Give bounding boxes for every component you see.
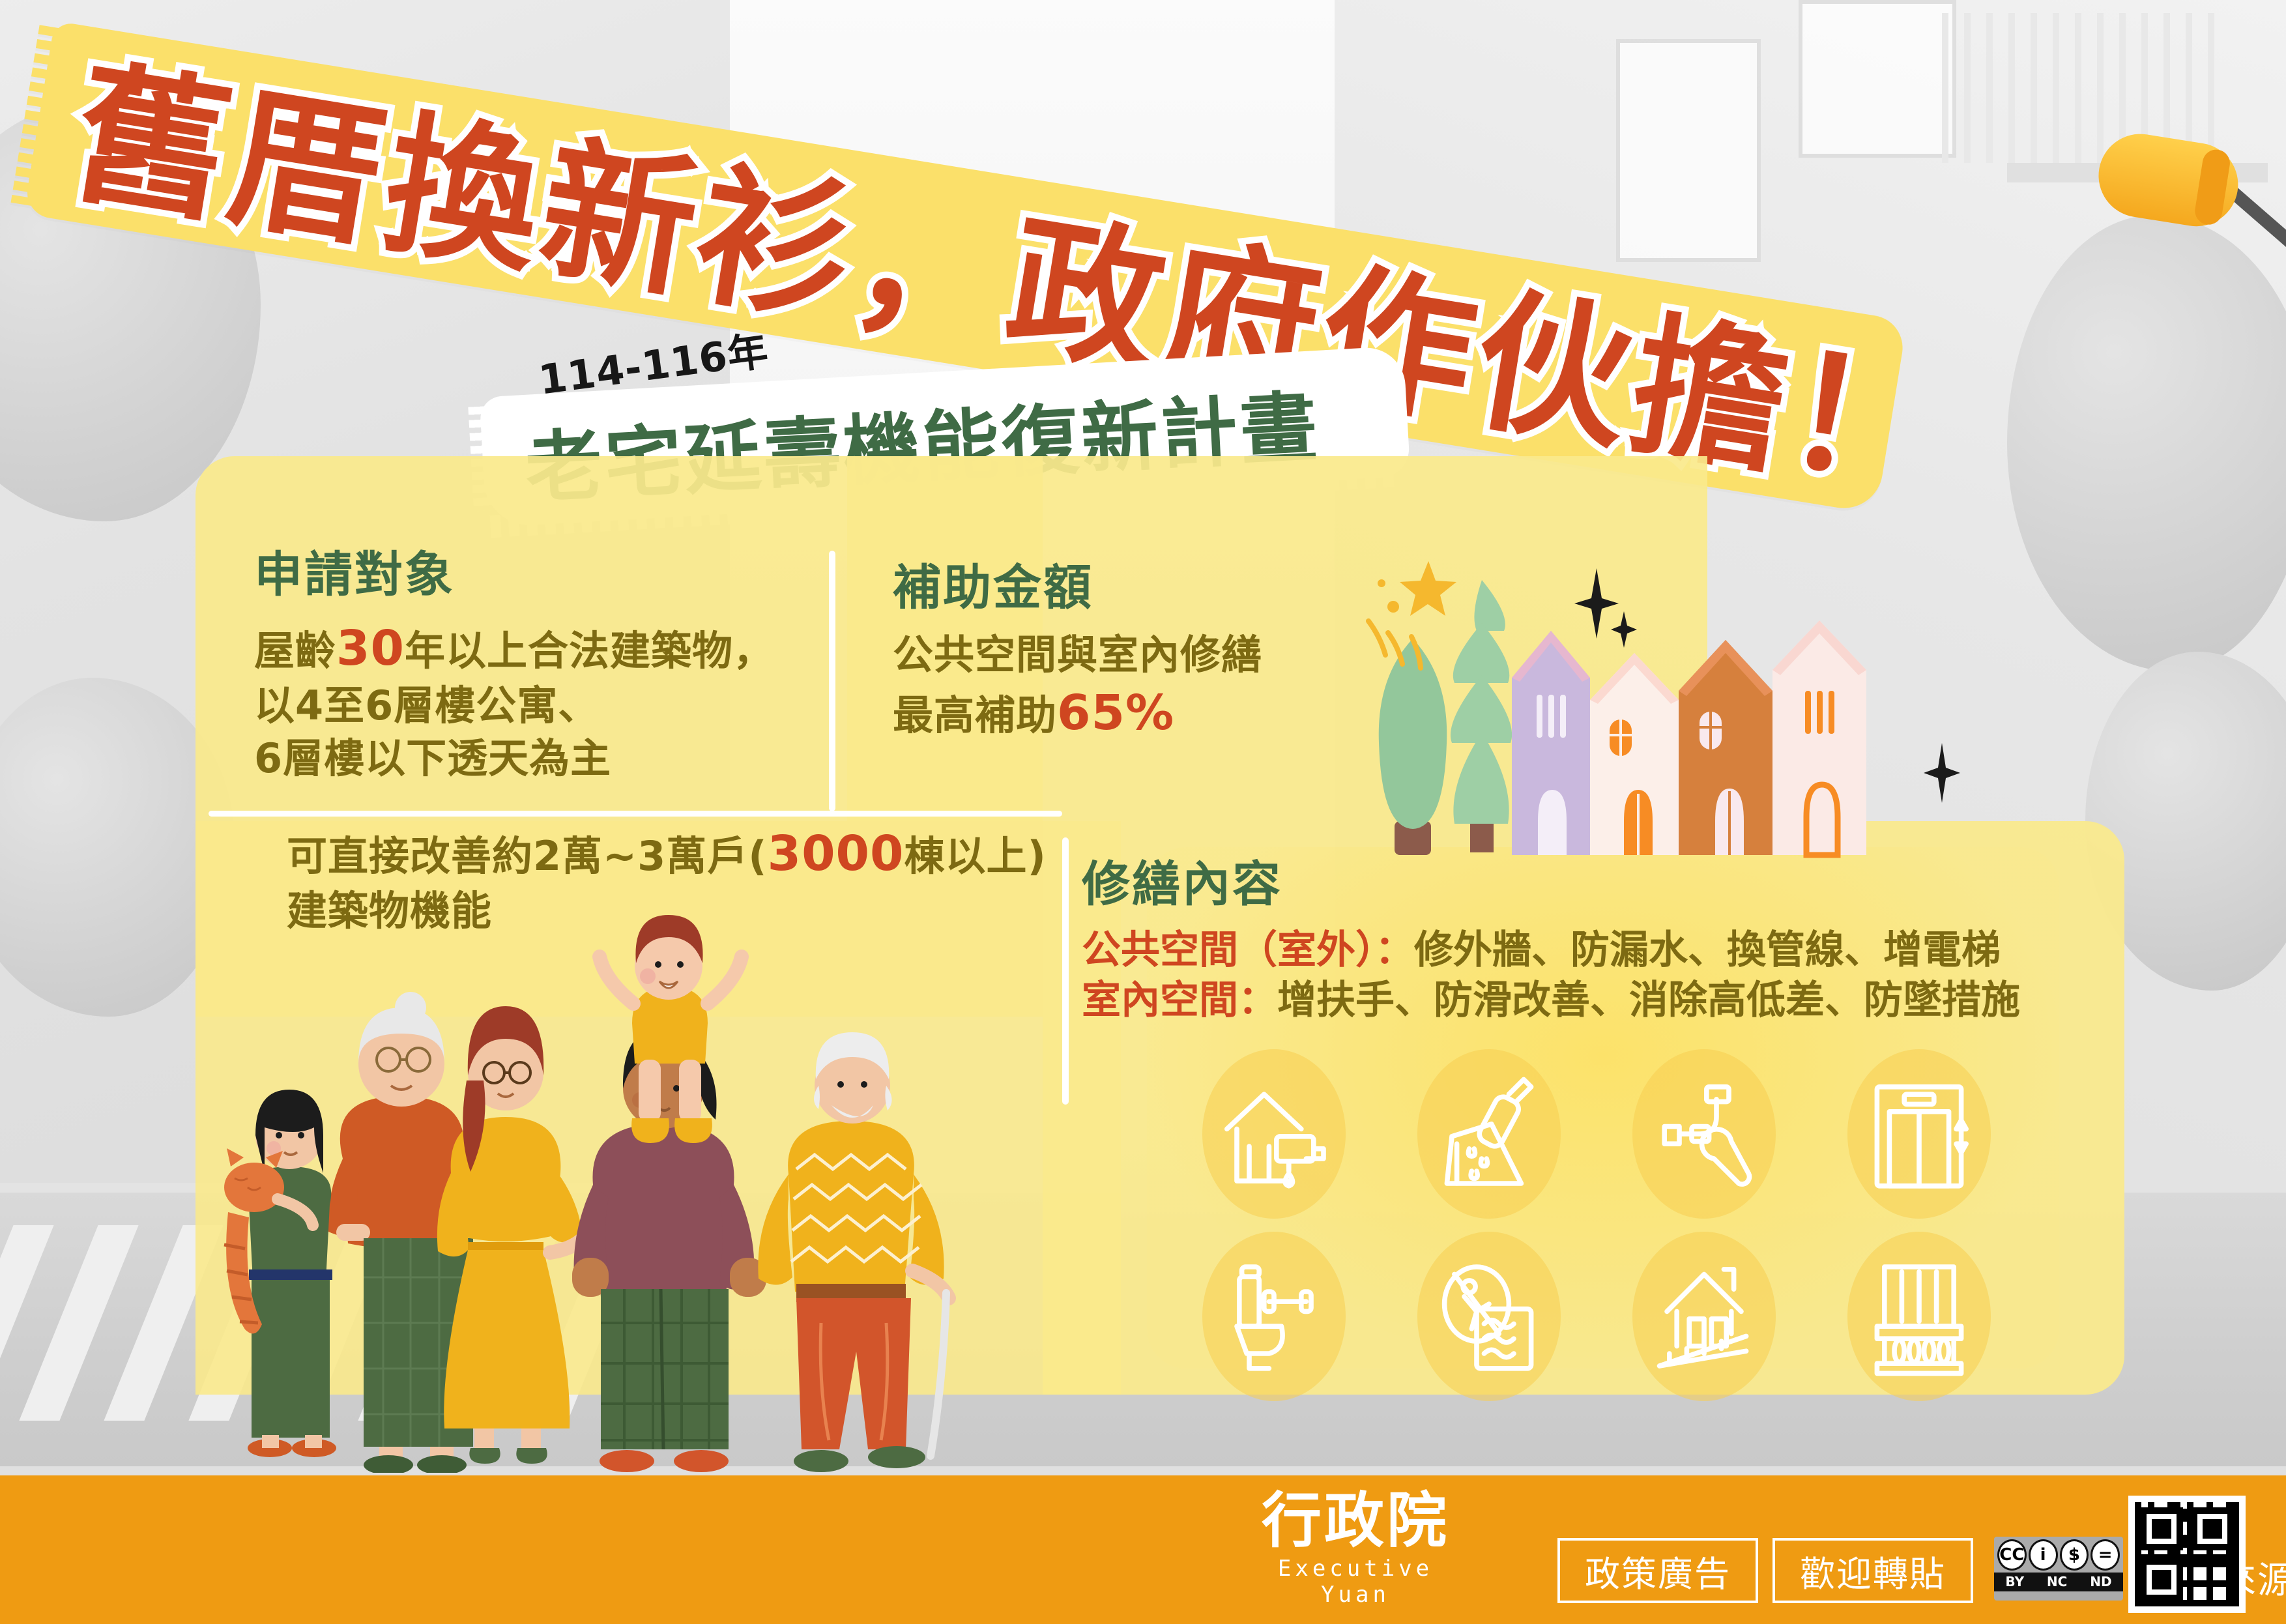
family-illustration [215, 893, 1082, 1473]
agency-name-cn: 行政院 [1248, 1492, 1463, 1549]
agency-name-en: Executive Yuan [1248, 1556, 1463, 1608]
poster-canvas: 舊厝換新衫，政府作伙擔！ 114-116年 老宅延壽機能復新計畫 申請對象 屋齡… [0, 0, 2286, 1624]
background-window [1799, 0, 1956, 158]
section-apply-body: 屋齡30年以上合法建築物， 以4至6層樓公寓、 6層樓以下透天為主 [254, 617, 841, 785]
executive-yuan-logo: 行政院 Executive Yuan [1248, 1492, 1463, 1608]
improve-count-highlight: 3000 [768, 826, 904, 882]
toy-house [1512, 631, 1590, 855]
repair-indoor-line: 室內空間：增扶手、防滑改善、消除高低差、防墜措施 [1082, 976, 2124, 1026]
cc-mark-nc-icon: $ [2060, 1539, 2089, 1571]
waterproofing-icon [1382, 1043, 1597, 1225]
improve-line-1: 可直接改善約2萬~3萬戶(3000棟以上) [287, 822, 1082, 885]
repair-outdoor-items: 修外牆、防漏水、換管線、增電梯 [1414, 927, 2001, 973]
sparkle-icon [1574, 568, 1619, 639]
section-repair-heading: 修繕內容 [1082, 860, 2124, 908]
repair-outdoor-line: 公共空間（室外）：修外牆、防漏水、換管線、增電梯 [1082, 925, 2124, 976]
creative-commons-badge: CC i $ = BY NC ND [1994, 1537, 2123, 1601]
apply-line-1: 屋齡30年以上合法建築物， [254, 617, 841, 680]
divider-horizontal [209, 811, 1062, 817]
person-girl-with-cat [224, 1090, 336, 1457]
section-apply: 申請對象 屋齡30年以上合法建築物， 以4至6層樓公寓、 6層樓以下透天為主 [254, 551, 841, 785]
elevator-icon [1812, 1043, 2027, 1225]
cc-mark-nd-icon: = [2091, 1539, 2120, 1571]
section-apply-heading: 申請對象 [254, 551, 841, 599]
badge-policy-ad: 政策廣告 [1557, 1538, 1758, 1603]
section-repair: 修繕內容 公共空間（室外）：修外牆、防漏水、換管線、增電梯 室內空間：增扶手、防… [1082, 860, 2124, 1026]
repair-outdoor-label: 公共空間（室外）： [1082, 927, 1414, 973]
cc-mark-by-icon: i [2029, 1539, 2058, 1571]
repair-indoor-label: 室內空間： [1082, 978, 1277, 1023]
toy-house [1590, 653, 1679, 855]
ramp-house-icon [1597, 1225, 1812, 1408]
apply-line-3: 6層樓以下透天為主 [254, 732, 841, 785]
sparkle-icon [1611, 611, 1637, 648]
repair-icon-grid [1166, 1043, 2027, 1408]
walking-cane [931, 1293, 946, 1456]
cc-mark-cc: CC [1997, 1539, 2027, 1571]
house-paint-roller-icon [1166, 1043, 1382, 1225]
cc-label-by: BY [2005, 1574, 2024, 1589]
subsidy-percent-highlight: 65% [1057, 685, 1174, 741]
toy-house [1772, 620, 1866, 855]
person-father-with-child [572, 915, 766, 1472]
toilet-grab-bar-icon [1166, 1225, 1382, 1408]
anti-slip-floor-icon [1382, 1225, 1597, 1408]
apply-line-2: 以4至6層樓公寓、 [254, 680, 841, 732]
pipe-wrench-icon [1597, 1043, 1812, 1225]
person-grandfather [758, 1032, 949, 1472]
qr-code[interactable] [2128, 1496, 2246, 1613]
background-window [1616, 39, 1761, 262]
cc-label-nc: NC [2047, 1574, 2067, 1589]
balcony-railing-icon [1812, 1225, 2027, 1408]
person-mother [437, 1006, 593, 1464]
repair-indoor-items: 增扶手、防滑改善、消除高低差、防墜措施 [1277, 978, 2020, 1023]
cc-label-nd: ND [2090, 1574, 2111, 1589]
star-decoration [1342, 544, 1486, 691]
badge-share-welcome: 歡迎轉貼 [1772, 1538, 1973, 1603]
toy-house [1679, 640, 1772, 855]
apply-age-highlight: 30 [336, 620, 405, 676]
sparkle-icon [1924, 743, 1960, 803]
